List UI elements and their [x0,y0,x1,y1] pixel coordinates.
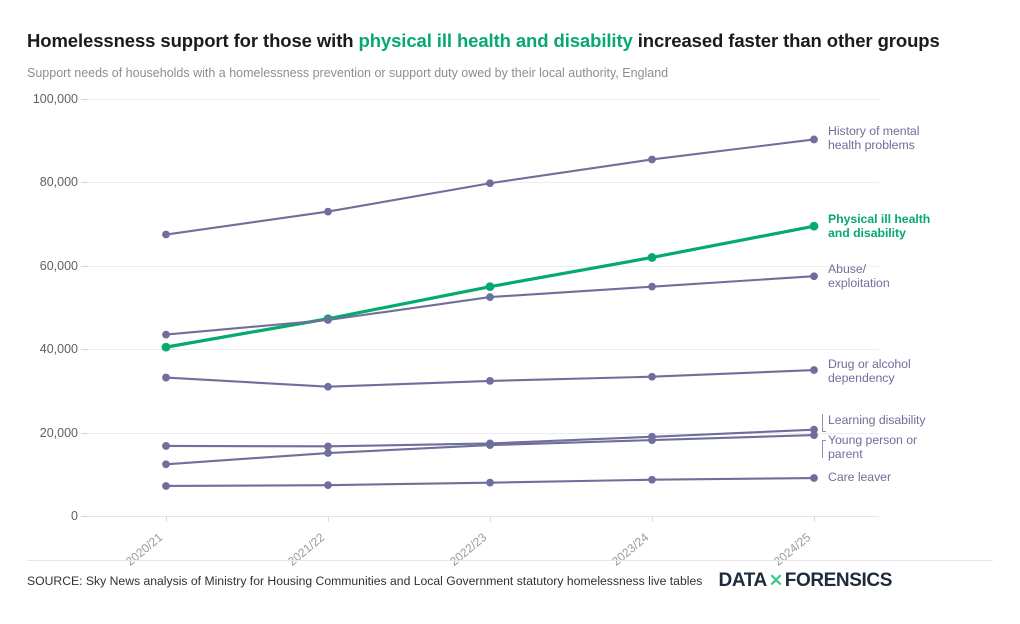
logo-x-icon: ✕ [767,571,785,591]
data-point[interactable] [648,156,656,164]
data-point[interactable] [486,479,494,487]
series-label[interactable]: Care leaver [828,471,891,485]
series-canvas [0,0,1020,624]
x-axis-tick [814,516,815,522]
data-point[interactable] [648,283,656,291]
data-point[interactable] [324,208,332,216]
data-point[interactable] [810,366,818,374]
logo-word-data: DATA [719,570,767,592]
x-axis-tick [652,516,653,522]
data-point[interactable] [162,343,171,352]
data-point[interactable] [162,331,170,339]
footer-divider [27,560,993,561]
data-point[interactable] [486,293,494,301]
data-point[interactable] [324,442,332,450]
data-point[interactable] [810,431,818,439]
data-point[interactable] [486,377,494,385]
series-label[interactable]: Physical ill health and disability [828,213,930,241]
data-point[interactable] [324,316,332,324]
data-point[interactable] [162,442,170,450]
data-forensics-logo: DATA✕FORENSICS [719,570,892,592]
data-point[interactable] [648,476,656,484]
data-point[interactable] [162,482,170,490]
data-point[interactable] [648,253,657,262]
data-point[interactable] [324,481,332,489]
source-note: SOURCE: Sky News analysis of Ministry fo… [27,574,702,588]
data-point[interactable] [162,231,170,239]
data-point[interactable] [810,272,818,280]
data-point[interactable] [810,222,819,231]
series-label[interactable]: Learning disability [828,414,926,428]
series-label[interactable]: Drug or alcohol dependency [828,358,911,386]
data-point[interactable] [810,136,818,144]
data-point[interactable] [810,474,818,482]
data-point[interactable] [486,179,494,187]
series-label[interactable]: Young person or parent [828,434,917,462]
data-point[interactable] [324,383,332,391]
data-point[interactable] [486,282,495,291]
data-point[interactable] [648,373,656,381]
series-label[interactable]: Abuse/ exploitation [828,263,890,291]
data-point[interactable] [486,441,494,449]
series-line [166,435,814,464]
x-axis-tick [166,516,167,522]
logo-word-forensics: FORENSICS [785,570,892,592]
data-point[interactable] [324,449,332,457]
x-axis-tick [490,516,491,522]
label-leader-line [822,440,826,458]
data-point[interactable] [162,460,170,468]
x-axis-tick [328,516,329,522]
data-point[interactable] [648,436,656,444]
data-point[interactable] [162,374,170,382]
label-leader-line [822,414,826,432]
series-label[interactable]: History of mental health problems [828,125,919,153]
chart-page: Homelessness support for those with phys… [0,0,1020,624]
